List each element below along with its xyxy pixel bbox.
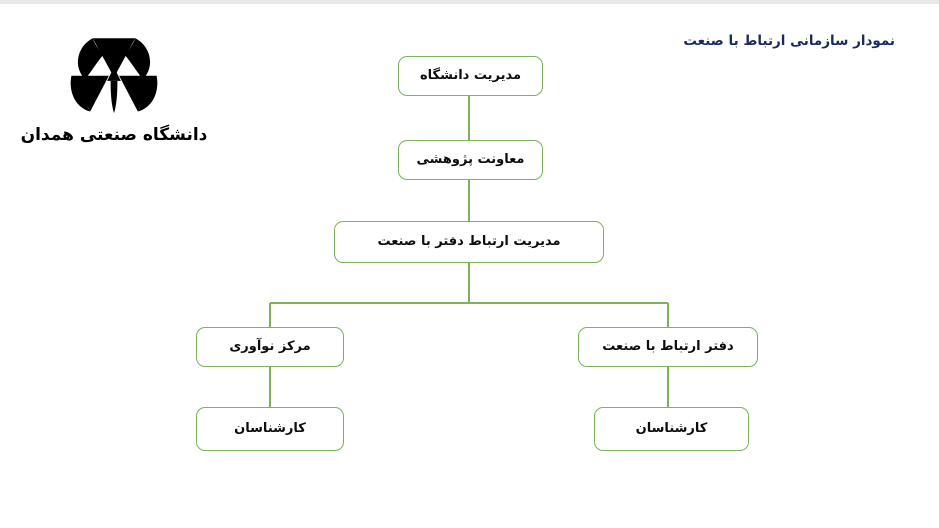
org-node-experts-innovation[interactable]: کارشناسان [196, 407, 344, 451]
top-edge-strip [0, 0, 939, 4]
org-node-industry-relations-office[interactable]: دفتر ارتباط با صنعت [578, 327, 758, 367]
org-node-research-deputy[interactable]: معاونت پژوهشی [398, 140, 543, 180]
hamedan-university-of-technology-logo-icon [62, 28, 166, 120]
connector-innovation-center-to-experts [269, 367, 271, 407]
connector-bus-to-industry-office [667, 303, 669, 327]
university-name-caption: دانشگاه صنعتی همدان [18, 126, 210, 145]
org-node-experts-industry-office[interactable]: کارشناسان [594, 407, 749, 451]
org-node-innovation-center[interactable]: مرکز نوآوری [196, 327, 344, 367]
university-logo-block: دانشگاه صنعتی همدان [18, 28, 210, 145]
connector-university-to-research-deputy [468, 96, 470, 140]
connector-industry-management-to-bus [468, 263, 470, 303]
org-node-industry-relations-management[interactable]: مدیریت ارتباط دفتر با صنعت [334, 221, 604, 263]
connector-bus-to-innovation-center [269, 303, 271, 327]
org-chart-page: نمودار سازمانی ارتباط با صنعت [0, 0, 939, 528]
connector-industry-office-to-experts [667, 367, 669, 407]
page-title: نمودار سازمانی ارتباط با صنعت [683, 33, 895, 49]
connector-horizontal-bus [270, 302, 668, 304]
connector-research-deputy-to-industry-management [468, 180, 470, 221]
org-node-university-management[interactable]: مدیریت دانشگاه [398, 56, 543, 96]
